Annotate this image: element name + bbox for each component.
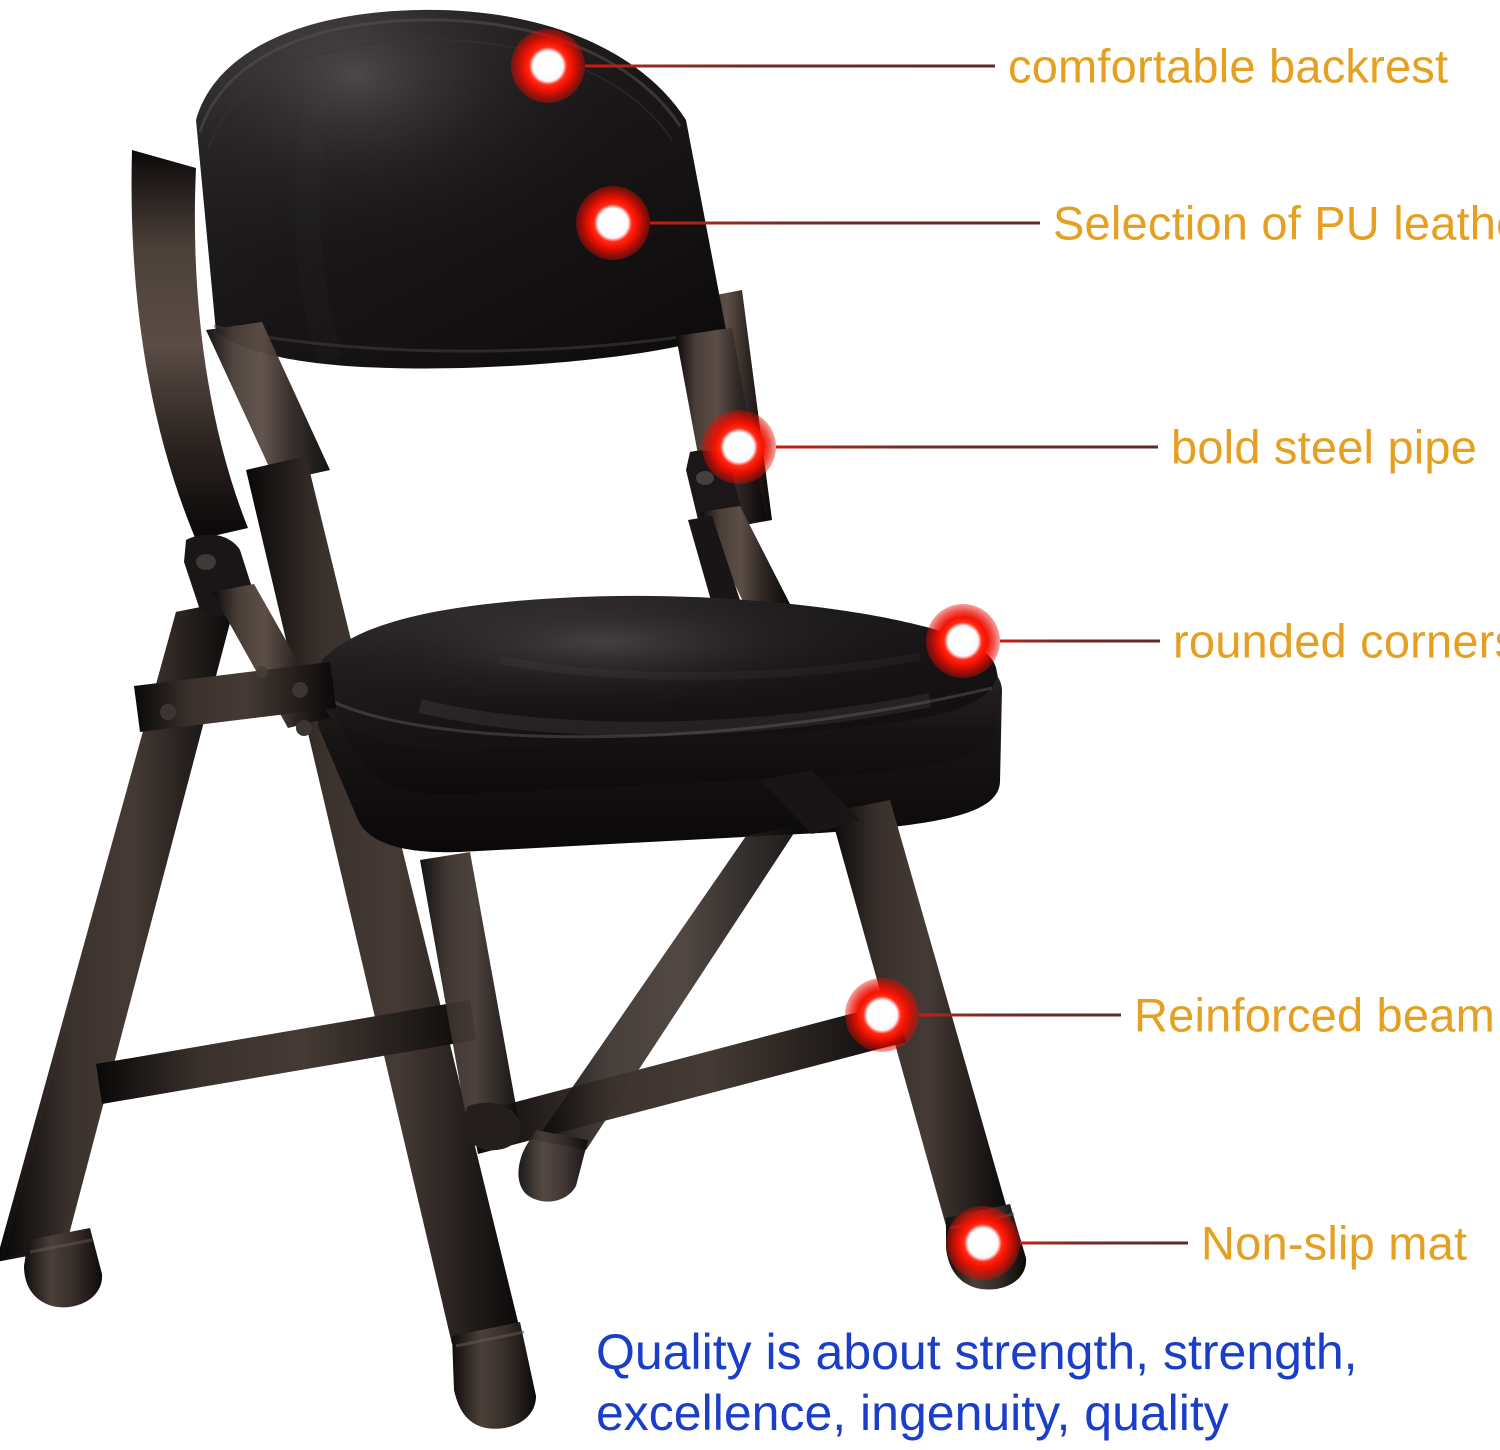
- hotspot-marker-reinforced-beam-rod[interactable]: [845, 978, 919, 1052]
- hotspot-marker-rounded-corners[interactable]: [926, 604, 1000, 678]
- hotspot-marker-bold-steel-pipe[interactable]: [702, 410, 776, 484]
- leader-line-rounded-corners: [1000, 640, 1160, 643]
- tagline-line-1: Quality is about strength, strength,: [596, 1322, 1496, 1383]
- feature-label-bold-steel-pipe: bold steel pipe: [1171, 424, 1477, 471]
- feature-label-pu-leather: Selection of PU leather: [1053, 200, 1500, 247]
- feature-label-non-slip-mat: Non-slip mat: [1201, 1220, 1467, 1267]
- leader-line-pu-leather: [650, 222, 1040, 225]
- leader-line-comfortable-backrest: [585, 65, 995, 68]
- hotspot-marker-comfortable-backrest[interactable]: [511, 29, 585, 103]
- tagline-line-2: excellence, ingenuity, quality: [596, 1383, 1496, 1444]
- infographic-canvas: comfortable backrest Selection of PU lea…: [0, 0, 1500, 1450]
- hotspot-marker-non-slip-mat[interactable]: [946, 1206, 1020, 1280]
- feature-label-reinforced-beam-rod: Reinforced beam rod: [1134, 992, 1500, 1039]
- feature-label-rounded-corners: rounded corners: [1173, 618, 1500, 665]
- marketing-tagline: Quality is about strength, strength, exc…: [596, 1322, 1496, 1444]
- feature-label-comfortable-backrest: comfortable backrest: [1008, 43, 1448, 90]
- leader-line-non-slip-mat: [1020, 1242, 1188, 1245]
- hotspot-marker-pu-leather[interactable]: [576, 186, 650, 260]
- leader-line-reinforced-beam-rod: [919, 1014, 1121, 1017]
- leader-line-bold-steel-pipe: [776, 446, 1158, 449]
